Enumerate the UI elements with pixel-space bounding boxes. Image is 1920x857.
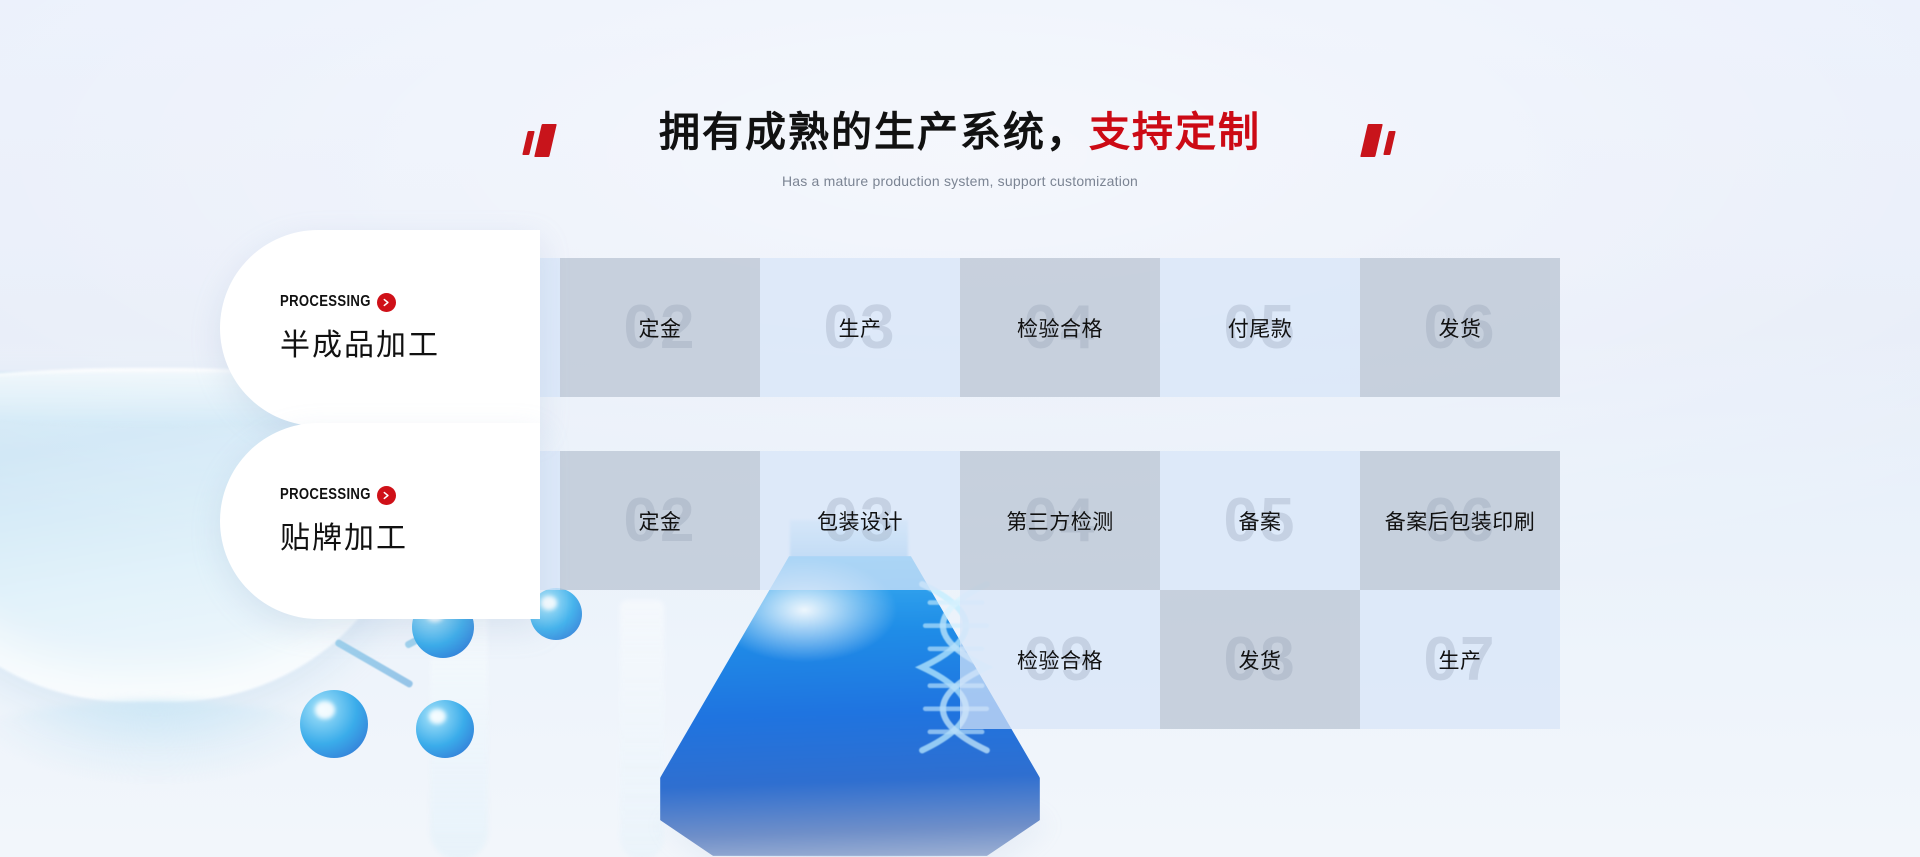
page-title-black: 拥有成熟的生产系统，	[659, 109, 1089, 155]
page-subtitle: Has a mature production system, support …	[0, 173, 1920, 189]
process-step[interactable]: 09 检验合格	[960, 590, 1160, 729]
grid-spacer	[560, 590, 760, 729]
circle-arrow-icon[interactable]	[377, 486, 396, 505]
process-grid: PROCESSING 贴牌加工 01 样品确定 02 定金	[360, 451, 1560, 590]
step-label: 定金	[639, 313, 682, 343]
step-label: 发货	[1239, 645, 1282, 675]
step-label: 备案	[1239, 506, 1282, 536]
process-eyebrow-text: PROCESSING	[280, 293, 371, 311]
step-label: 第三方检测	[1006, 506, 1114, 536]
process-name: 贴牌加工	[280, 513, 540, 557]
process-step[interactable]: 02 定金	[560, 451, 760, 590]
process-step[interactable]: 06 备案后包装印刷	[1360, 451, 1560, 590]
process-step[interactable]: 05 备案	[1160, 451, 1360, 590]
quote-mark-left-icon	[523, 122, 567, 156]
process-blocks: PROCESSING 半成品加工 01 样品确定 02 定	[0, 258, 1920, 783]
page-header: 拥有成熟的生产系统，支持定制 Has a mature production s…	[0, 0, 1920, 189]
page-stage: 拥有成熟的生产系统，支持定制 Has a mature production s…	[0, 0, 1920, 857]
step-label: 备案后包装印刷	[1385, 506, 1536, 536]
process-grid-continued: 09 检验合格 08 发货 07 生产	[360, 590, 1560, 729]
process-block-oem: PROCESSING 贴牌加工 01 样品确定 02 定金	[0, 451, 1920, 729]
page-title-accent: 支持定制	[1089, 109, 1261, 155]
process-step[interactable]: 06 发货	[1360, 258, 1560, 397]
process-step[interactable]: 05 付尾款	[1160, 258, 1360, 397]
process-label-card[interactable]: PROCESSING 半成品加工	[220, 230, 540, 426]
process-step[interactable]: 02 定金	[560, 258, 760, 397]
step-label: 检验合格	[1017, 313, 1103, 343]
process-step[interactable]: 03 包装设计	[760, 451, 960, 590]
step-label: 发货	[1439, 313, 1482, 343]
title-row: 拥有成熟的生产系统，支持定制	[0, 104, 1920, 160]
step-label: 付尾款	[1228, 313, 1293, 343]
process-block-semi-finished: PROCESSING 半成品加工 01 样品确定 02 定	[0, 258, 1920, 397]
step-label: 包装设计	[817, 506, 903, 536]
process-step[interactable]: 03 生产	[760, 258, 960, 397]
quote-mark-right-icon	[1362, 122, 1406, 156]
grid-spacer	[760, 590, 960, 729]
step-label: 定金	[639, 506, 682, 536]
process-step[interactable]: 04 第三方检测	[960, 451, 1160, 590]
process-grid: PROCESSING 半成品加工 01 样品确定 02 定	[360, 258, 1560, 397]
process-eyebrow: PROCESSING	[280, 486, 540, 505]
circle-arrow-icon[interactable]	[377, 293, 396, 312]
step-label: 生产	[1439, 645, 1482, 675]
process-eyebrow: PROCESSING	[280, 293, 540, 312]
process-step[interactable]: 04 检验合格	[960, 258, 1160, 397]
process-label-card[interactable]: PROCESSING 贴牌加工	[220, 423, 540, 619]
step-label: 生产	[839, 313, 882, 343]
page-title: 拥有成熟的生产系统，支持定制	[659, 104, 1261, 160]
process-eyebrow-text: PROCESSING	[280, 486, 371, 504]
process-step[interactable]: 08 发货	[1160, 590, 1360, 729]
process-name: 半成品加工	[280, 320, 540, 364]
process-step[interactable]: 07 生产	[1360, 590, 1560, 729]
step-label: 检验合格	[1017, 645, 1103, 675]
